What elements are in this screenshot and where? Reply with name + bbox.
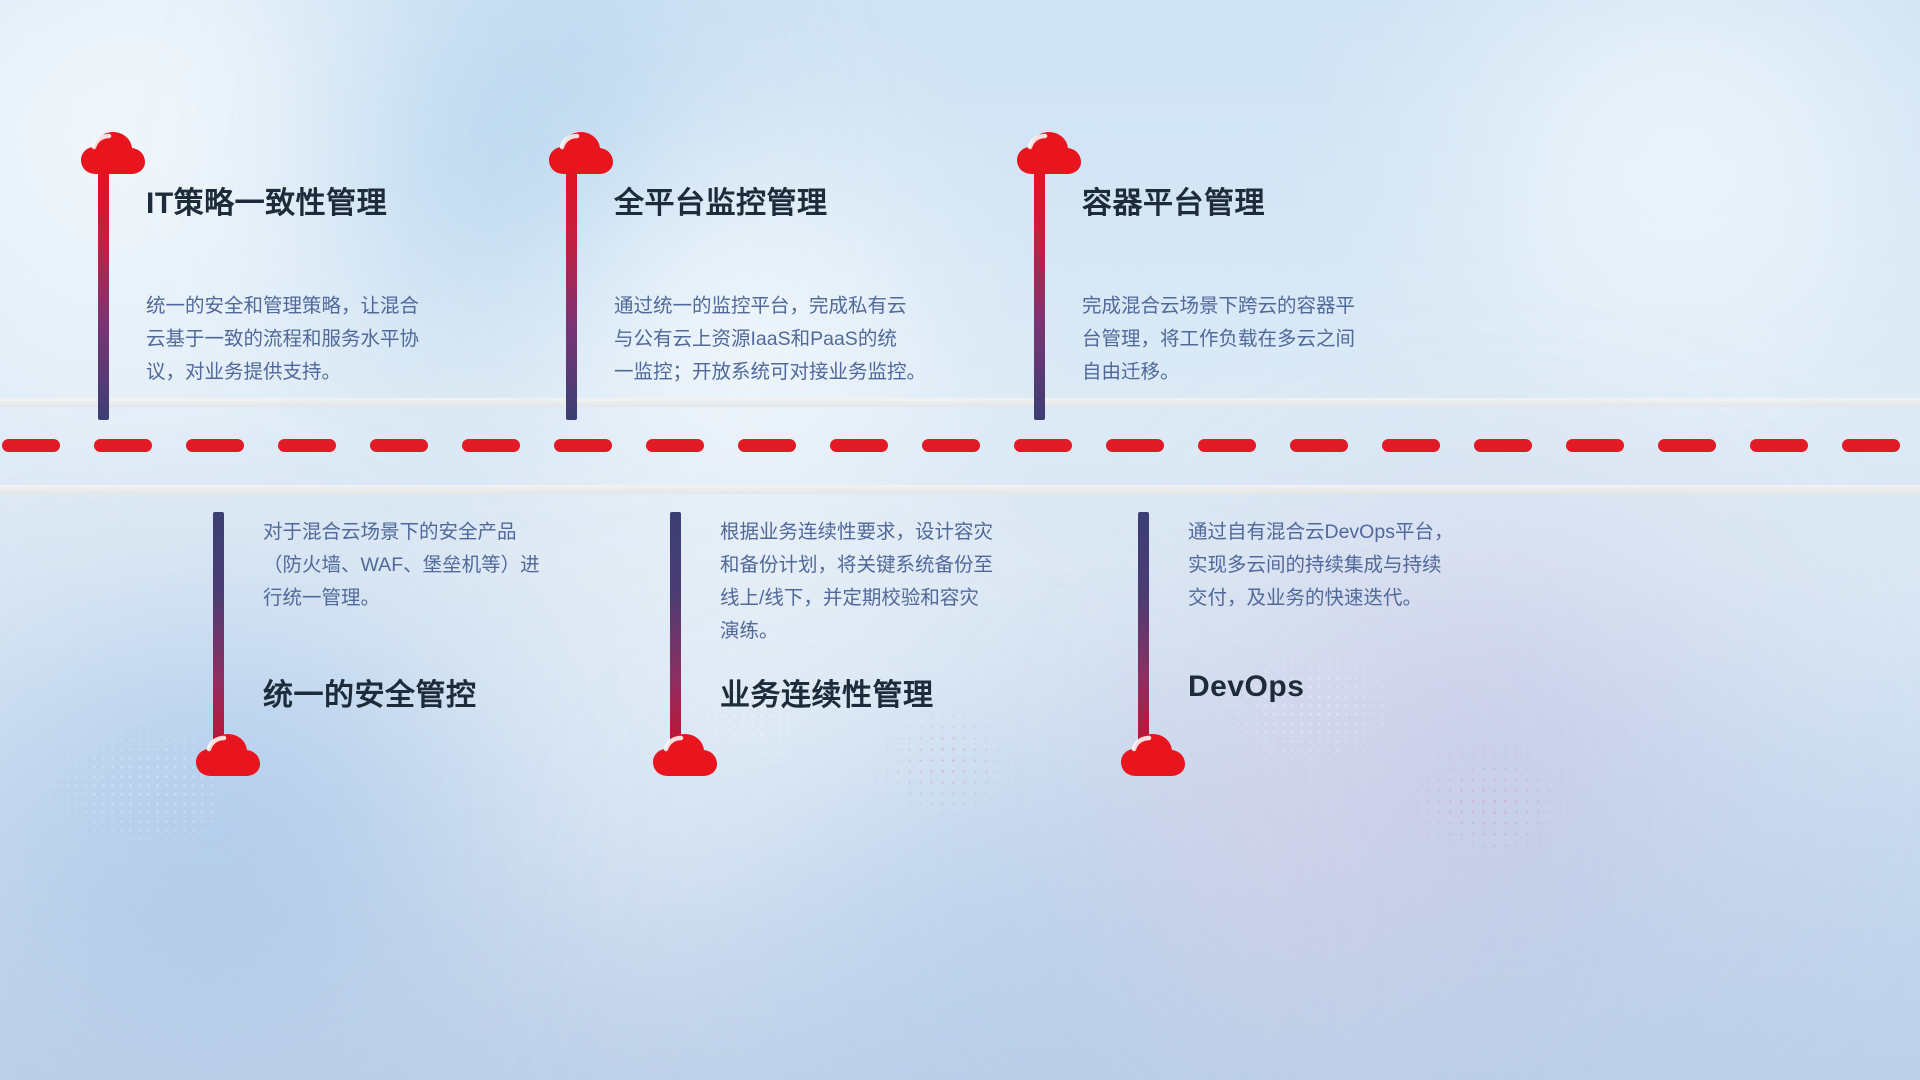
road-dash-segment <box>1382 439 1440 452</box>
feature-description: 根据业务连续性要求，设计容灾 和备份计划，将关键系统备份至 线上/线下，并定期校… <box>720 516 1110 648</box>
road-dash-segment <box>1290 439 1348 452</box>
road-dash-segment <box>922 439 980 452</box>
road-dash-segment <box>554 439 612 452</box>
road-edge-bottom <box>0 485 1920 494</box>
connector-bar <box>670 512 681 750</box>
road-dash-segment <box>278 439 336 452</box>
cloud-icon <box>80 130 146 176</box>
road-dash-segment <box>462 439 520 452</box>
road-dash-segment <box>94 439 152 452</box>
feature-description: 完成混合云场景下跨云的容器平 台管理，将工作负载在多云之间 自由迁移。 <box>1082 290 1462 389</box>
road-edge-top <box>0 398 1920 407</box>
road-dash-segment <box>1750 439 1808 452</box>
cloud-icon <box>195 732 261 778</box>
feature-heading: 容器平台管理 <box>1082 178 1265 222</box>
feature-description: 统一的安全和管理策略，让混合 云基于一致的流程和服务水平协 议，对业务提供支持。 <box>146 290 526 389</box>
road-dash-segment <box>1106 439 1164 452</box>
feature-heading: 统一的安全管控 <box>263 670 477 714</box>
connector-bar <box>1138 512 1149 750</box>
road-dash-segment <box>646 439 704 452</box>
cloud-icon <box>548 130 614 176</box>
feature-description: 对于混合云场景下的安全产品 （防火墙、WAF、堡垒机等）进 行统一管理。 <box>263 516 653 615</box>
road-dash-segment <box>1566 439 1624 452</box>
feature-heading: 全平台监控管理 <box>614 178 828 222</box>
feature-heading: 业务连续性管理 <box>720 670 934 714</box>
feature-heading: IT策略一致性管理 <box>146 178 387 222</box>
connector-bar <box>98 170 109 420</box>
road-dash-segment <box>738 439 796 452</box>
road-dash-segment <box>1198 439 1256 452</box>
road-dash-segment <box>1014 439 1072 452</box>
road-dash-segment <box>1842 439 1900 452</box>
road-center-dashes <box>0 439 1920 452</box>
cloud-icon <box>652 732 718 778</box>
road-dash-segment <box>2 439 60 452</box>
cloud-icon <box>1120 732 1186 778</box>
feature-description: 通过自有混合云DevOps平台， 实现多云间的持续集成与持续 交付，及业务的快速… <box>1188 516 1578 615</box>
feature-heading: DevOps <box>1188 670 1304 704</box>
connector-bar <box>1034 170 1045 420</box>
road-dash-segment <box>1658 439 1716 452</box>
road-dash-segment <box>370 439 428 452</box>
connector-bar <box>566 170 577 420</box>
cloud-icon <box>1016 130 1082 176</box>
connector-bar <box>213 512 224 750</box>
feature-description: 通过统一的监控平台，完成私有云 与公有云上资源IaaS和PaaS的统 一监控；开… <box>614 290 994 389</box>
road-dash-segment <box>186 439 244 452</box>
road-dash-segment <box>1474 439 1532 452</box>
road-divider <box>0 398 1920 494</box>
road-dash-segment <box>830 439 888 452</box>
